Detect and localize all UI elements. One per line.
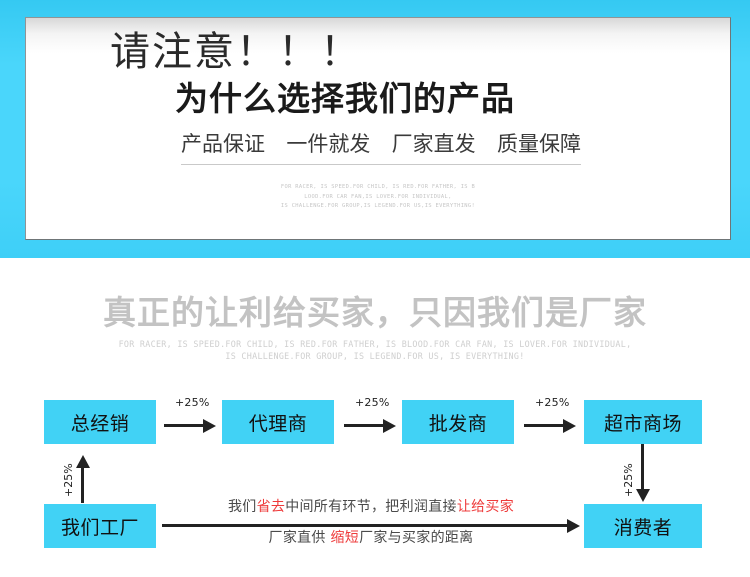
flow-node-supermarket: 超市商场 <box>584 400 702 444</box>
arrow-up-icon <box>76 455 90 503</box>
direct-line-top-highlight-1: 省去 <box>257 499 286 515</box>
arrow-head <box>636 489 650 502</box>
arrow-right-icon-3 <box>524 419 576 433</box>
markup-label-step-3: +25% <box>535 396 569 409</box>
flow-node-factory: 我们工厂 <box>44 504 156 548</box>
supply-chain-flowchart: 总经销 代理商 批发商 超市商场 我们工厂 消费者 +25% +25% +25%… <box>0 0 750 577</box>
arrow-shaft <box>162 524 567 527</box>
arrow-shaft <box>524 424 564 427</box>
arrow-head <box>383 419 396 433</box>
direct-line-bottom-part-1: 厂家直供 <box>269 530 331 546</box>
markup-label-factory-to-distributor: +25% <box>62 463 75 497</box>
flow-node-wholesaler: 批发商 <box>402 400 514 444</box>
arrow-head <box>563 419 576 433</box>
arrow-shaft <box>164 424 204 427</box>
direct-line-top-part-3: 中间所有环节，把利润直接 <box>285 499 457 515</box>
arrow-shaft <box>344 424 384 427</box>
markup-label-supermarket-to-consumer: +25% <box>622 463 635 497</box>
direct-line-top-part-1: 我们 <box>228 499 257 515</box>
flow-node-distributor: 总经销 <box>44 400 156 444</box>
flow-node-agent: 代理商 <box>222 400 334 444</box>
arrow-right-icon-1 <box>164 419 216 433</box>
direct-line-top-highlight-2: 让给买家 <box>457 499 514 515</box>
direct-line-bottom-highlight: 缩短 <box>330 530 359 546</box>
direct-line-bottom-part-3: 厂家与买家的距离 <box>359 530 473 546</box>
direct-line-text-bottom: 厂家直供 缩短厂家与买家的距离 <box>162 528 580 548</box>
arrow-shaft <box>81 465 84 503</box>
arrow-shaft <box>641 444 644 492</box>
arrow-down-icon <box>636 444 650 502</box>
markup-label-step-2: +25% <box>355 396 389 409</box>
flow-node-consumer: 消费者 <box>584 504 702 548</box>
markup-label-step-1: +25% <box>175 396 209 409</box>
arrow-right-icon-2 <box>344 419 396 433</box>
arrow-head <box>203 419 216 433</box>
direct-line-text-top: 我们省去中间所有环节，把利润直接让给买家 <box>162 497 580 517</box>
